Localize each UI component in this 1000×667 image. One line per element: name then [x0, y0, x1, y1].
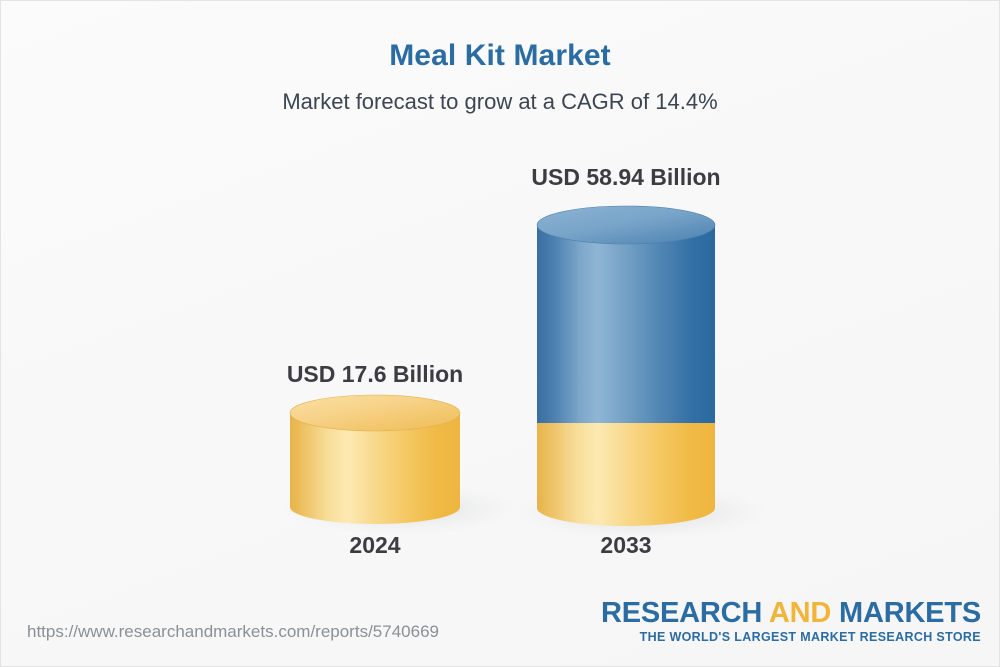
logo-word-and: AND: [769, 597, 831, 629]
chart-plot-area: [1, 1, 1000, 667]
category-label-2033: 2033: [476, 532, 776, 559]
chart-canvas: Meal Kit Market Market forecast to grow …: [0, 0, 1000, 667]
bar-value-label-2033: USD 58.94 Billion: [476, 164, 776, 191]
bar-2033-body: [537, 225, 715, 423]
source-url[interactable]: https://www.researchandmarkets.com/repor…: [27, 622, 439, 642]
bar-2033-base-segment: [537, 423, 715, 526]
logo-word-markets: MARKETS: [839, 597, 981, 629]
bar-2033[interactable]: [513, 206, 769, 539]
bar-2024-top-ellipse: [290, 395, 460, 431]
research-and-markets-logo[interactable]: RESEARCH AND MARKETS THE WORLD'S LARGEST…: [601, 598, 981, 644]
logo-tagline: THE WORLD'S LARGEST MARKET RESEARCH STOR…: [601, 630, 981, 644]
bar-2033-top-ellipse: [537, 206, 715, 244]
logo-word-research: RESEARCH: [601, 597, 762, 629]
bar-value-label-2024: USD 17.6 Billion: [225, 361, 525, 388]
logo-wordmark: RESEARCH AND MARKETS: [601, 598, 981, 628]
bar-2024[interactable]: [281, 395, 521, 535]
